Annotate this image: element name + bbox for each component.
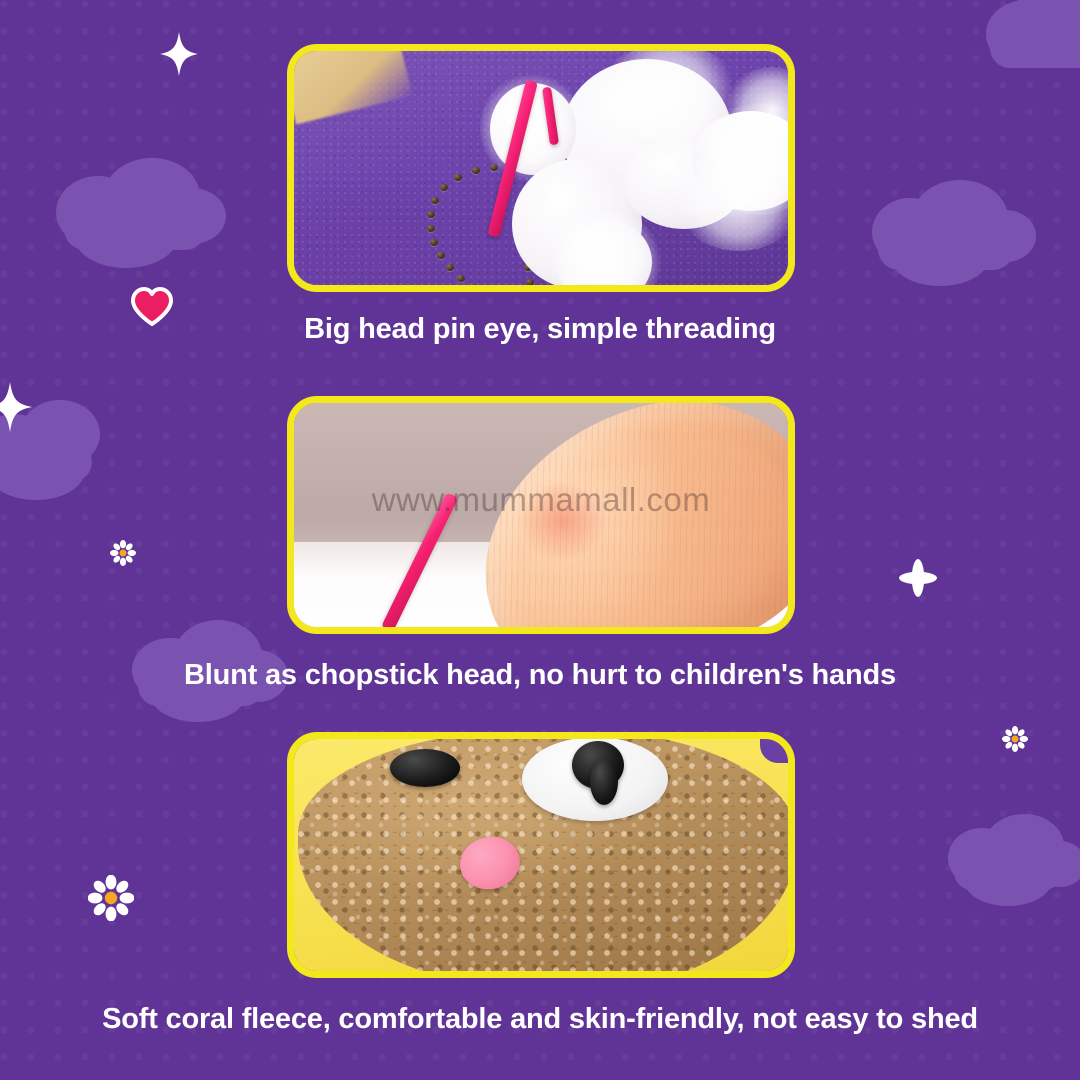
sparkle-star-top-left-icon: [160, 32, 198, 76]
finger-pressure-blush: [518, 481, 608, 561]
panel-1-photo: [294, 51, 788, 285]
flower-small-right-icon: [1002, 726, 1028, 752]
infographic-canvas: Big head pin eye, simple threading www.m…: [0, 0, 1080, 1080]
cloud-bottom-right: [936, 806, 1080, 910]
panel-3-caption: Soft coral fleece, comfortable and skin-…: [0, 1003, 1080, 1036]
cloud-upper-left: [40, 152, 230, 272]
felt-eye-black-left: [390, 749, 460, 787]
cloud-top-right: [968, 0, 1080, 80]
panel-2-caption: Blunt as chopstick head, no hurt to chil…: [0, 659, 1080, 692]
flower-large-left-icon: [88, 875, 134, 921]
cloud-right: [856, 174, 1046, 292]
panel-1-caption: Big head pin eye, simple threading: [0, 313, 1080, 346]
flower-small-left-icon: [110, 540, 136, 566]
felt-eye-pupil-right-tail: [590, 759, 618, 805]
plus-sparkle-icon: [898, 558, 938, 598]
sparkle-star-mid-left-icon: [0, 382, 32, 432]
panel-2-photo: www.mummamall.com: [294, 403, 788, 627]
feature-panel-2[interactable]: www.mummamall.com: [287, 396, 795, 634]
feature-panel-1[interactable]: [287, 44, 795, 292]
feature-panel-3[interactable]: [287, 732, 795, 978]
panel-3-photo: [294, 739, 788, 971]
